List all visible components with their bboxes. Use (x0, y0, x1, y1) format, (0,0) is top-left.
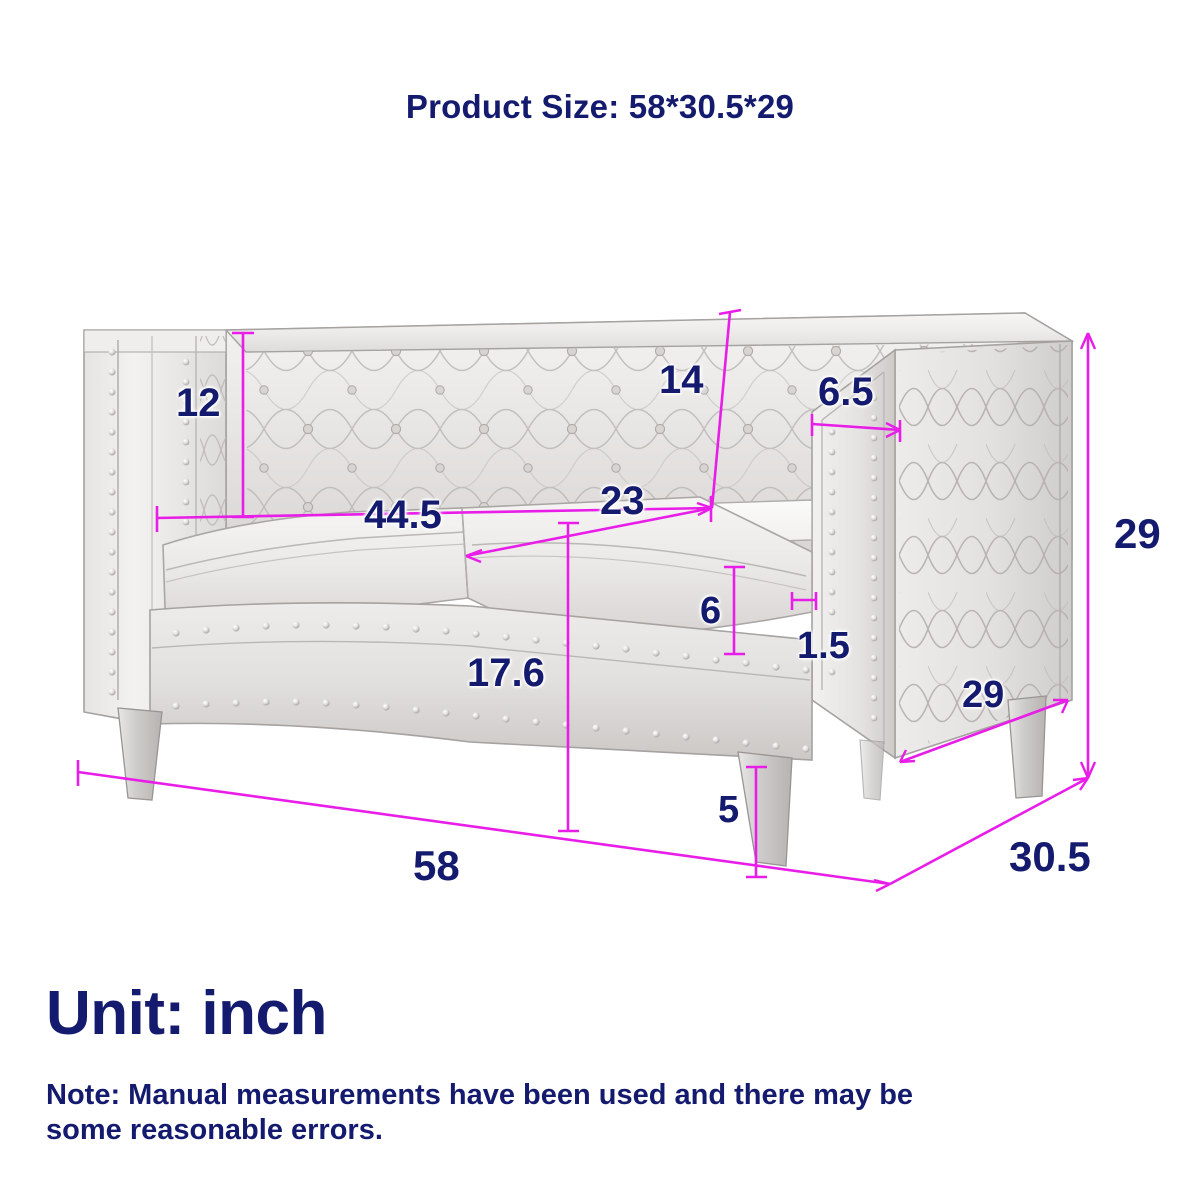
dimension-label-overall-depth: 30.5 (1009, 836, 1091, 878)
dimension-label-leg-height: 5 (718, 791, 739, 829)
dimension-label-seat-height: 17.6 (467, 653, 545, 693)
dimension-label-arm-width: 6.5 (818, 372, 874, 412)
dimension-label-back-cushion-height: 12 (176, 383, 221, 423)
dimension-label-cushion-thickness: 6 (700, 592, 721, 630)
dimline-overall-width (78, 760, 890, 891)
dimline-seat-height (558, 522, 579, 832)
dimension-lines (0, 0, 1200, 1200)
dimension-label-seat-width: 44.5 (364, 495, 442, 535)
dimension-label-seat-depth: 23 (600, 481, 645, 521)
dimline-leg-height (746, 766, 767, 878)
dimline-trim-thickness (792, 592, 816, 610)
dimline-cushion-thickness (724, 566, 745, 655)
dimension-label-back-height: 14 (659, 360, 704, 400)
dimension-label-trim-thickness: 1.5 (797, 627, 850, 665)
dimline-arm-width (812, 414, 900, 442)
dimension-label-side-depth: 29 (962, 676, 1004, 714)
dimension-label-overall-height: 29 (1114, 513, 1161, 555)
dimline-back-cushion-height (232, 332, 254, 518)
dimension-label-overall-width: 58 (413, 845, 460, 887)
diagram-canvas: Product Size: 58*30.5*29 (0, 0, 1200, 1200)
dimline-back-height (712, 310, 741, 508)
dimline-overall-height (1081, 333, 1095, 778)
